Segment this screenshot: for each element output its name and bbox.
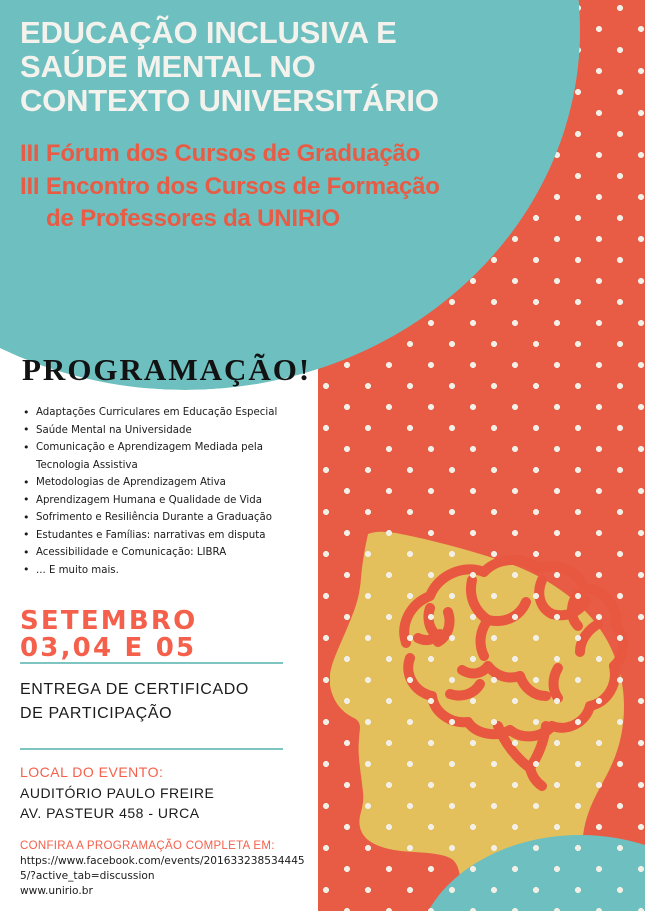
event-date: SETEMBRO 03,04 E 05 (20, 608, 197, 663)
list-item: Sofrimento e Resiliência Durante a Gradu… (22, 509, 304, 527)
subtitle-line-3: de Professores da UNIRIO (20, 203, 560, 235)
website-link[interactable]: www.unirio.br (20, 884, 316, 899)
links-info: CONFIRA A PROGRAMAÇÃO COMPLETA EM: https… (20, 838, 316, 899)
divider-2 (20, 748, 283, 750)
poster-header: EDUCAÇÃO INCLUSIVA E SAÚDE MENTAL NO CON… (20, 16, 560, 235)
list-item: Saúde Mental na Universidade (22, 422, 304, 440)
certificate-line-1: ENTREGA DE CERTIFICADO (20, 678, 249, 702)
list-item: Comunicação e Aprendizagem Mediada pela … (22, 439, 304, 474)
list-item: ... E muito mais. (22, 562, 304, 580)
program-heading: PROGRAMAÇÃO! (22, 352, 311, 388)
certificate-note: ENTREGA DE CERTIFICADO DE PARTICIPAÇÃO (20, 678, 249, 726)
list-item: Metodologias de Aprendizagem Ativa (22, 474, 304, 492)
venue-label: LOCAL DO EVENTO: (20, 762, 214, 783)
venue-name: AUDITÓRIO PAULO FREIRE (20, 783, 214, 804)
certificate-line-2: DE PARTICIPAÇÃO (20, 702, 249, 726)
list-item: Adaptações Curriculares em Educação Espe… (22, 404, 304, 422)
poster-canvas: EDUCAÇÃO INCLUSIVA E SAÚDE MENTAL NO CON… (0, 0, 645, 911)
event-days: 03,04 E 05 (20, 635, 197, 662)
venue-address: AV. PASTEUR 458 - URCA (20, 803, 214, 824)
list-item: Estudantes e Famílias: narrativas em dis… (22, 527, 304, 545)
divider-1 (20, 662, 283, 664)
title-line-3: CONTEXTO UNIVERSITÁRIO (20, 84, 560, 118)
event-month: SETEMBRO (20, 608, 197, 635)
list-item: Acessibilidade e Comunicação: LIBRA (22, 544, 304, 562)
list-item: Aprendizagem Humana e Qualidade de Vida (22, 492, 304, 510)
event-subtitle: III Fórum dos Cursos de Graduação III En… (20, 138, 560, 234)
page-title: EDUCAÇÃO INCLUSIVA E SAÚDE MENTAL NO CON… (20, 16, 560, 117)
subtitle-line-1: III Fórum dos Cursos de Graduação (20, 138, 560, 170)
program-topic-list: Adaptações Curriculares em Educação Espe… (22, 404, 304, 579)
facebook-event-link[interactable]: https://www.facebook.com/events/20163323… (20, 854, 316, 884)
title-line-2: SAÚDE MENTAL NO (20, 50, 560, 84)
subtitle-line-2: III Encontro dos Cursos de Formação (20, 171, 560, 203)
venue-info: LOCAL DO EVENTO: AUDITÓRIO PAULO FREIRE … (20, 762, 214, 824)
title-line-1: EDUCAÇÃO INCLUSIVA E (20, 16, 560, 50)
links-label: CONFIRA A PROGRAMAÇÃO COMPLETA EM: (20, 838, 316, 854)
